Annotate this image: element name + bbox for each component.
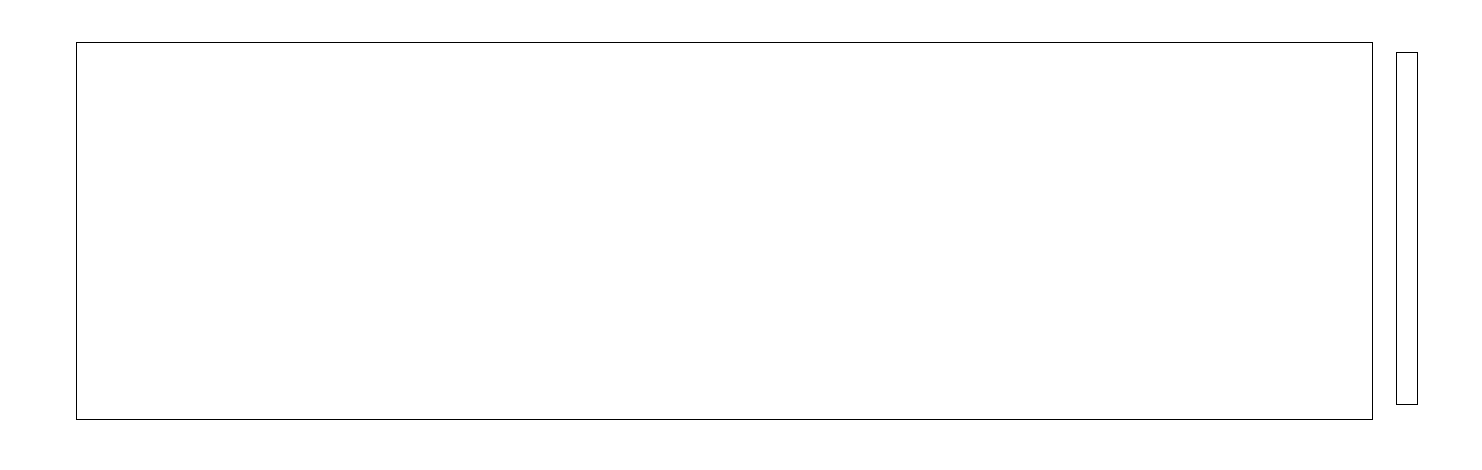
colorbar-gradient xyxy=(1396,52,1418,405)
colorbar xyxy=(1396,52,1418,405)
radar-cross-section-figure xyxy=(0,0,1482,470)
y-axis xyxy=(0,0,1482,470)
